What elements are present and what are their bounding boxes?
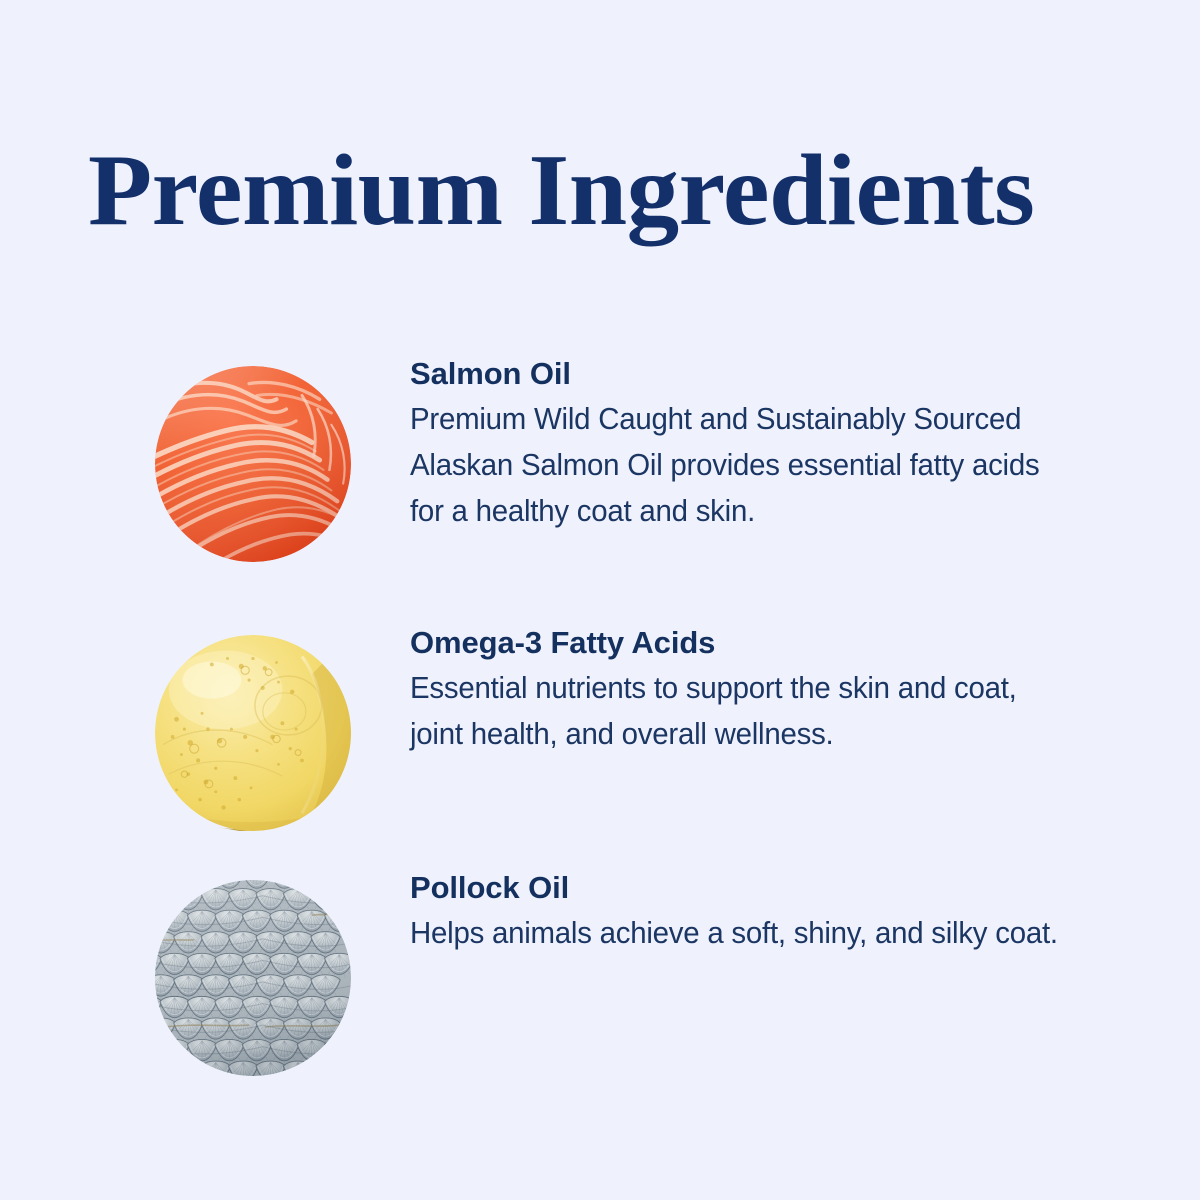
golden-oil-droplet-swatch [155,635,351,831]
ingredient-name: Salmon Oil [410,354,1100,394]
ingredient-name: Pollock Oil [410,868,1100,908]
ingredient-description: Helps animals achieve a soft, shiny, and… [410,910,1076,956]
ingredient-name: Omega-3 Fatty Acids [410,623,1100,663]
ingredient-description: Essential nutrients to support the skin … [410,665,1076,758]
ingredient-list: Salmon Oil Premium Wild Caught and Susta… [0,0,1200,1200]
ingredients-infographic: Premium Ingredients [0,0,1200,1200]
ingredient-text: Pollock Oil Helps animals achieve a soft… [410,868,1100,956]
ingredient-text: Salmon Oil Premium Wild Caught and Susta… [410,354,1100,535]
ingredient-description: Premium Wild Caught and Sustainably Sour… [410,396,1076,535]
fish-scales-swatch [155,880,351,1076]
ingredient-text: Omega-3 Fatty Acids Essential nutrients … [410,623,1100,757]
salmon-fillet-swatch [155,366,351,562]
